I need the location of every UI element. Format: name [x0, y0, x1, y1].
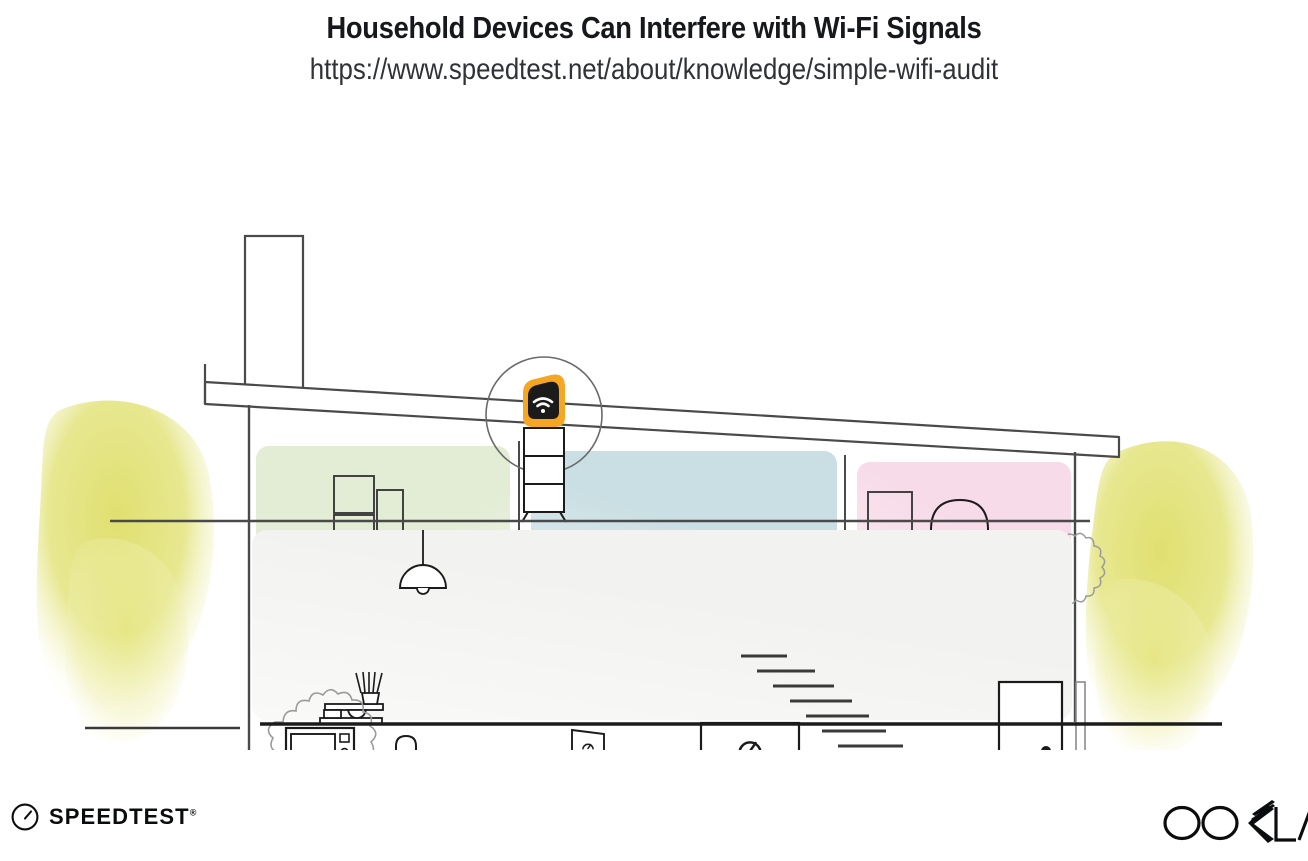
kitchen-sink-faucet	[396, 736, 416, 750]
shelf-unit	[522, 428, 566, 522]
roof-slab	[205, 364, 1119, 457]
dining-laptop[interactable]: SPEEDTEST	[549, 730, 611, 750]
speedtest-wordmark: SPEEDTEST®	[49, 804, 196, 830]
ookla-logo[interactable]	[1156, 800, 1308, 851]
living-room-tv[interactable]: SPEEDTEST	[701, 723, 799, 750]
footer: SPEEDTEST®	[0, 780, 1308, 861]
side-window	[1076, 682, 1085, 750]
speedtest-logo[interactable]: SPEEDTEST®	[10, 802, 196, 832]
source-url: https://www.speedtest.net/about/knowledg…	[92, 50, 1217, 90]
front-door[interactable]	[999, 682, 1062, 750]
trademark-symbol: ®	[190, 808, 197, 818]
foliage-right	[1086, 441, 1253, 750]
house-illustration: SPEEDTEST	[0, 110, 1308, 750]
wifi-router[interactable]	[523, 375, 565, 428]
illustration-page: Household Devices Can Interfere with Wi-…	[0, 0, 1308, 861]
room-lower-floor: SPEEDTEST	[252, 530, 1085, 750]
page-title: Household Devices Can Interfere with Wi-…	[78, 8, 1229, 48]
header: Household Devices Can Interfere with Wi-…	[0, 0, 1308, 90]
chimney	[245, 236, 303, 389]
ookla-chevron-icon	[1248, 800, 1275, 843]
speedometer-gauge-icon	[10, 802, 40, 832]
foliage-left	[37, 401, 214, 743]
